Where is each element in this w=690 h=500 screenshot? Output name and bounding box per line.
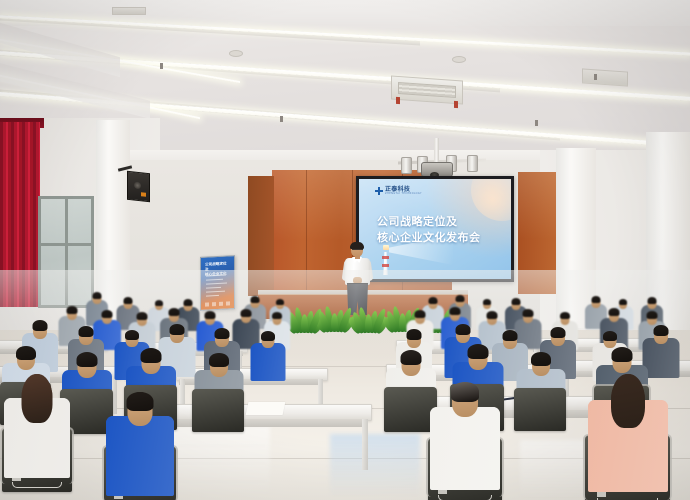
audience-hair (609, 308, 620, 316)
audience-hair (486, 311, 497, 319)
audience-hair (209, 353, 229, 367)
pillar-left-shading (96, 120, 130, 320)
floor-reflection-2 (330, 434, 420, 498)
stage-curtain (0, 122, 40, 307)
chair-handle (12, 482, 62, 488)
projection-screen[interactable]: 正泰科技 ZHENGTAI TECHNOLOGY 公司战略定位及 核心企业文化发… (359, 179, 511, 279)
audience-hair-long (611, 374, 645, 428)
projector-mount-pole (434, 138, 439, 164)
audience-hair (451, 382, 479, 402)
door-mullion-vertical (65, 199, 68, 305)
speaker-indicator-light (141, 192, 146, 197)
audience-hair (648, 297, 657, 304)
audience-hair (123, 297, 132, 304)
audience-hair (77, 352, 98, 367)
audience-hair (93, 292, 102, 299)
paper-sheet (246, 402, 286, 415)
plant-leaf (331, 313, 338, 332)
sprinkler-head-2 (280, 116, 283, 122)
ceiling-vent-2 (582, 68, 628, 86)
wood-panel-wall-left (248, 176, 274, 296)
logo-cross-icon (375, 187, 383, 195)
audience-member (106, 392, 174, 496)
plant-leaf (301, 314, 308, 333)
audience-torso (430, 407, 500, 490)
audience-hair (646, 311, 657, 319)
banner-footer-strip (205, 301, 230, 306)
audience-hair (204, 311, 215, 319)
chair-handle (438, 495, 491, 500)
slide-company-logo: 正泰科技 ZHENGTAI TECHNOLOGY (375, 187, 422, 195)
wood-panel-seam-1 (306, 170, 307, 298)
audience-hair (414, 310, 425, 318)
banner-body-line (206, 287, 221, 289)
speaker-driver-icon (134, 182, 141, 190)
ceiling-projector[interactable] (421, 162, 453, 177)
banner-body-line (206, 295, 219, 297)
banner-body-line (206, 291, 225, 293)
audience-hair (33, 320, 48, 331)
ac-tab-left (396, 97, 400, 104)
audience-hair (467, 344, 488, 359)
wood-panel-gloss-right (518, 172, 556, 294)
audience-hair (653, 325, 668, 336)
audience-hair (450, 307, 461, 315)
audience-hair (136, 312, 147, 320)
audience-hair (276, 299, 284, 305)
presenter-glasses-icon (352, 249, 363, 253)
banner-body-lines (206, 274, 229, 299)
audience-hair (522, 309, 533, 317)
audience-hair (215, 328, 230, 339)
audience-hair (551, 327, 566, 338)
audience-hair (125, 330, 139, 340)
audience-hair (66, 306, 77, 314)
wood-panel-wall-right (518, 172, 556, 294)
sprinkler-head-4 (535, 120, 538, 126)
audience-hair (456, 295, 465, 302)
audience-hair (619, 299, 627, 305)
audience-hair (183, 299, 192, 306)
sprinkler-head-3 (594, 74, 597, 80)
audience-hair (141, 348, 162, 363)
lighthouse-lamp (383, 245, 389, 250)
audience-hair (531, 352, 551, 366)
audience-hair (79, 326, 94, 337)
air-conditioner-grille (398, 82, 456, 98)
audience-hair (251, 296, 260, 303)
track-light-1[interactable] (401, 157, 412, 174)
audience-hair (240, 309, 251, 317)
audience-hair (261, 331, 275, 341)
banner-body-line (206, 275, 226, 277)
door-mullion-horizontal (41, 243, 91, 246)
audience-hair (483, 299, 491, 305)
audience-hair (612, 347, 633, 362)
ceiling-vent-1 (112, 7, 146, 15)
banner-body-line (206, 282, 227, 284)
ac-tab-right (454, 101, 458, 108)
slide-lighthouse-icon (381, 245, 390, 275)
desk-leg (362, 419, 368, 470)
audience-hair (455, 324, 470, 335)
wall-speaker (127, 171, 150, 202)
audience-hair (16, 346, 36, 360)
smoke-detector-icon (452, 56, 466, 63)
slide-logo-subtext: ZHENGTAI TECHNOLOGY (385, 193, 422, 195)
audience-hair (503, 330, 518, 341)
audience-hair (603, 331, 617, 341)
banner-headline: 公司战略定位及 核心企业文化 (205, 261, 230, 271)
audience-hair (272, 312, 282, 319)
audience-member (250, 331, 285, 381)
audience-hair (169, 324, 184, 335)
audience-hair-long (22, 374, 53, 423)
audience-member (588, 374, 668, 492)
plant-leaf (365, 314, 372, 333)
audience-hair (169, 308, 180, 316)
audience-hair (560, 312, 570, 319)
sprinkler-head-1 (160, 63, 163, 69)
smoke-detector-icon-2 (229, 50, 243, 57)
audience-member (4, 374, 70, 478)
audience-hair (592, 296, 601, 303)
track-light-4[interactable] (467, 155, 478, 172)
projection-screen-frame: 正泰科技 ZHENGTAI TECHNOLOGY 公司战略定位及 核心企业文化发… (356, 176, 514, 282)
air-conditioner-unit (391, 75, 463, 104)
conference-hall-screenshot: 正泰科技 ZHENGTAI TECHNOLOGY 公司战略定位及 核心企业文化发… (0, 0, 690, 500)
audience-hair (401, 350, 422, 365)
audience-hair (512, 298, 521, 305)
chair (514, 388, 566, 431)
audience-hair (155, 300, 163, 306)
lighthouse-stripe-2 (382, 264, 389, 267)
audience-hair (102, 310, 113, 318)
audience-hair (407, 329, 422, 340)
audience-hair (127, 392, 154, 411)
lighthouse-stripe-1 (382, 256, 389, 259)
desk-apron (153, 419, 367, 427)
audience-hair (429, 297, 438, 304)
audience-member (430, 382, 500, 490)
pillar-left (96, 120, 130, 320)
rollup-banner: 公司战略定位及 核心企业文化 (200, 255, 235, 311)
slide-title-line-1: 公司战略定位及 (377, 214, 481, 230)
audience-torso (106, 416, 174, 496)
chair (192, 389, 244, 432)
banner-body-line (206, 279, 223, 281)
audience-torso (250, 343, 285, 381)
